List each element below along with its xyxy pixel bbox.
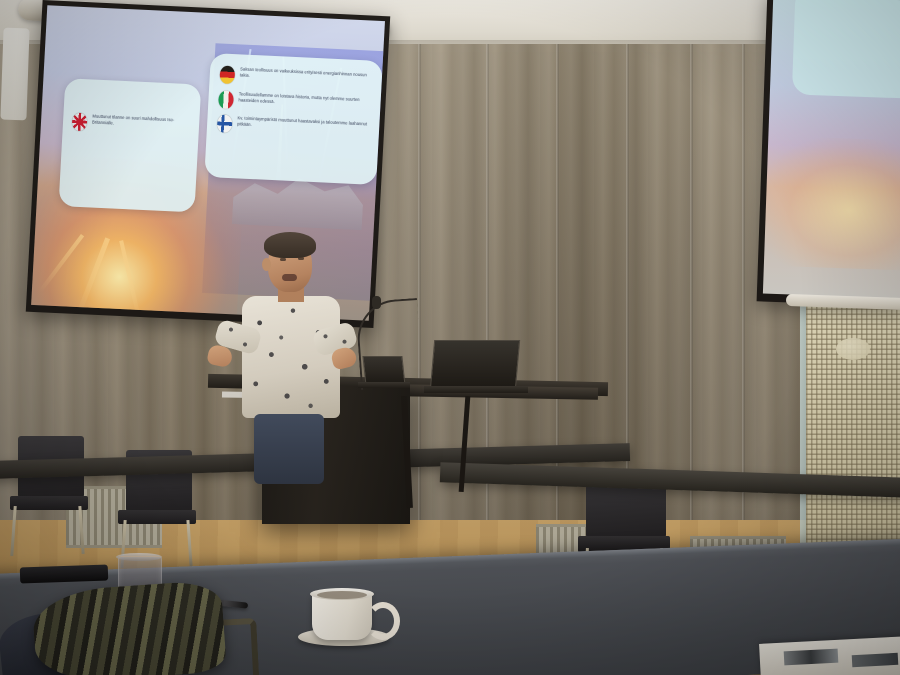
presenter bbox=[206, 232, 366, 482]
paper-photo bbox=[784, 649, 839, 666]
flag-finland-icon bbox=[217, 114, 233, 133]
presenter-trousers bbox=[254, 414, 324, 484]
slide-bullet-finland-text: Kv. toimintaympäristö muuttunut haastava… bbox=[237, 115, 368, 133]
secondary-projection-screen bbox=[757, 0, 900, 307]
curtain-fold bbox=[418, 44, 421, 564]
slide-card-right: Saksan teollisuus on vaikeuksissa erityi… bbox=[204, 53, 383, 185]
secondary-slide-surface bbox=[763, 0, 900, 298]
wall-speaker-icon bbox=[0, 28, 29, 121]
slide-card-left: Muuttunut tilanne on suuri mahdollisuus … bbox=[59, 78, 202, 212]
presenter-eye bbox=[298, 257, 304, 260]
microphone-head-icon bbox=[372, 296, 381, 309]
presenter-ear bbox=[262, 258, 271, 271]
curtain-fold bbox=[486, 44, 489, 564]
lecture-hall-photo: Muuttunut tilanne on suuri mahdollisuus … bbox=[0, 0, 900, 675]
phone bbox=[20, 564, 109, 583]
slide-card-left-text: Muuttunut tilanne on suuri mahdollisuus … bbox=[92, 114, 190, 130]
secondary-slide-sun-art bbox=[763, 135, 900, 271]
paper-photo bbox=[852, 653, 899, 667]
presenter-mouth bbox=[282, 274, 297, 281]
presenter-hair bbox=[264, 232, 316, 258]
coffee-cup-handle bbox=[366, 602, 400, 640]
secondary-slide-card bbox=[792, 0, 900, 99]
presenter-shirt bbox=[242, 296, 340, 418]
juice-glass-rim bbox=[116, 553, 162, 561]
slide-bullet-italy-text: Teollisuudellamme on loistava historia, … bbox=[238, 91, 369, 109]
presenter-eye bbox=[280, 258, 286, 261]
flag-uk-icon bbox=[72, 113, 88, 132]
flag-italy-icon bbox=[218, 90, 234, 109]
slide-bullet-germany-text: Saksan teollisuus on vaikeuksissa erityi… bbox=[240, 66, 371, 84]
coffee-cup-interior bbox=[317, 591, 367, 599]
flag-germany-icon bbox=[219, 65, 235, 84]
ceiling-speaker-icon bbox=[836, 338, 870, 360]
